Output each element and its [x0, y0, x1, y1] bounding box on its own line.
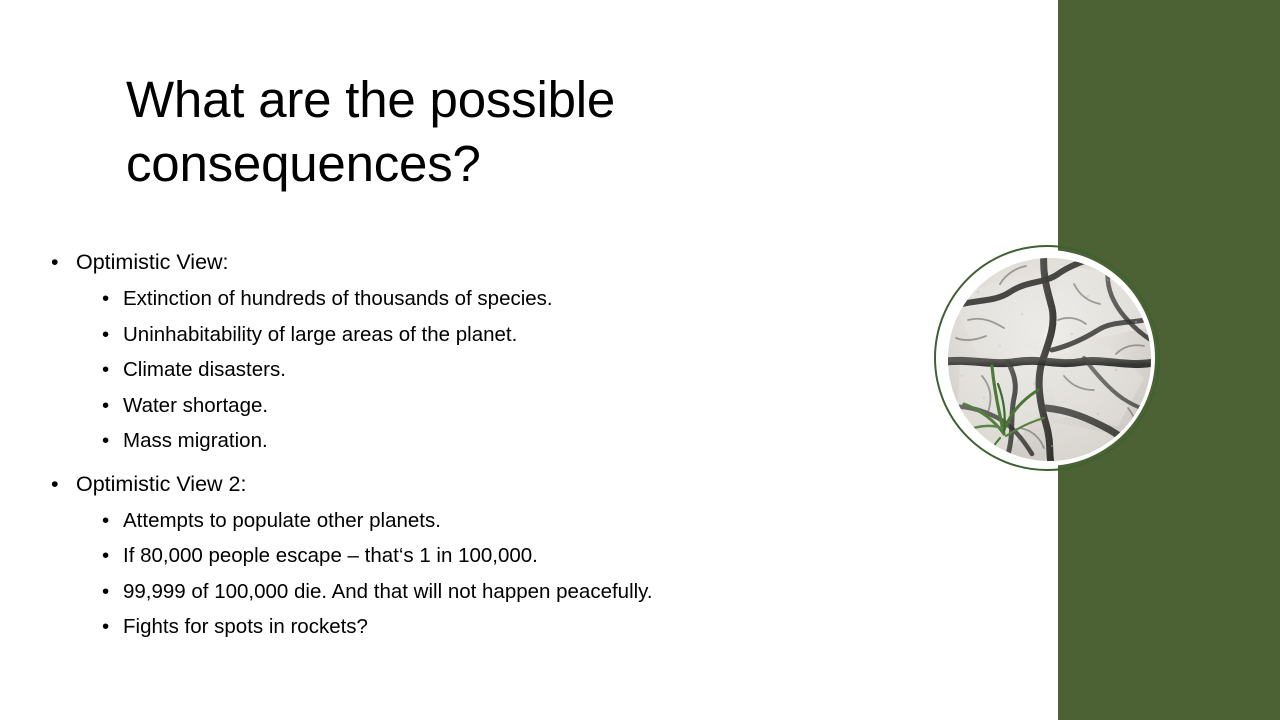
bullet-group: • Optimistic View: • Extinction of hundr…: [46, 243, 926, 459]
bullet-marker-icon: •: [102, 574, 109, 610]
bullet-level2-label: Extinction of hundreds of thousands of s…: [123, 287, 553, 310]
bullet-level2-label: If 80,000 people escape – that‘s 1 in 10…: [123, 544, 538, 567]
bullet-level2: • Climate disasters.: [46, 352, 926, 388]
bullet-level2: • If 80,000 people escape – that‘s 1 in …: [46, 538, 926, 574]
bullet-marker-icon: •: [51, 243, 59, 281]
bullet-level1-label: Optimistic View 2:: [76, 472, 246, 496]
bullet-marker-icon: •: [102, 388, 109, 424]
bullet-level2-label: Climate disasters.: [123, 358, 286, 381]
bullet-marker-icon: •: [102, 352, 109, 388]
slide-image: [934, 245, 1164, 475]
bullet-level2: • Attempts to populate other planets.: [46, 503, 926, 539]
bullet-level2: • 99,999 of 100,000 die. And that will n…: [46, 574, 926, 610]
bullet-level2: • Mass migration.: [46, 423, 926, 459]
bullet-level1: • Optimistic View:: [46, 243, 926, 281]
slide-body: • Optimistic View: • Extinction of hundr…: [46, 243, 926, 645]
bullet-marker-icon: •: [102, 538, 109, 574]
bullet-marker-icon: •: [102, 423, 109, 459]
bullet-marker-icon: •: [102, 503, 109, 539]
bullet-marker-icon: •: [51, 465, 59, 503]
cracked-earth-photo: [948, 258, 1151, 461]
bullet-level2: • Extinction of hundreds of thousands of…: [46, 281, 926, 317]
bullet-level2: • Water shortage.: [46, 388, 926, 424]
bullet-level2-label: Attempts to populate other planets.: [123, 509, 441, 532]
bullet-level2-label: 99,999 of 100,000 die. And that will not…: [123, 580, 653, 603]
slide-title: What are the possible consequences?: [126, 68, 906, 196]
bullet-marker-icon: •: [102, 609, 109, 645]
bullet-marker-icon: •: [102, 317, 109, 353]
bullet-level2: • Uninhabitability of large areas of the…: [46, 317, 926, 353]
bullet-level1-label: Optimistic View:: [76, 250, 229, 274]
bullet-level2: • Fights for spots in rockets?: [46, 609, 926, 645]
bullet-level2-label: Uninhabitability of large areas of the p…: [123, 323, 517, 346]
bullet-level2-label: Water shortage.: [123, 394, 268, 417]
bullet-level1: • Optimistic View 2:: [46, 465, 926, 503]
presentation-slide: What are the possible consequences? • Op…: [0, 0, 1280, 720]
bullet-level2-label: Mass migration.: [123, 429, 268, 452]
bullet-marker-icon: •: [102, 281, 109, 317]
bullet-level2-label: Fights for spots in rockets?: [123, 615, 368, 638]
bullet-group: • Optimistic View 2: • Attempts to popul…: [46, 465, 926, 645]
